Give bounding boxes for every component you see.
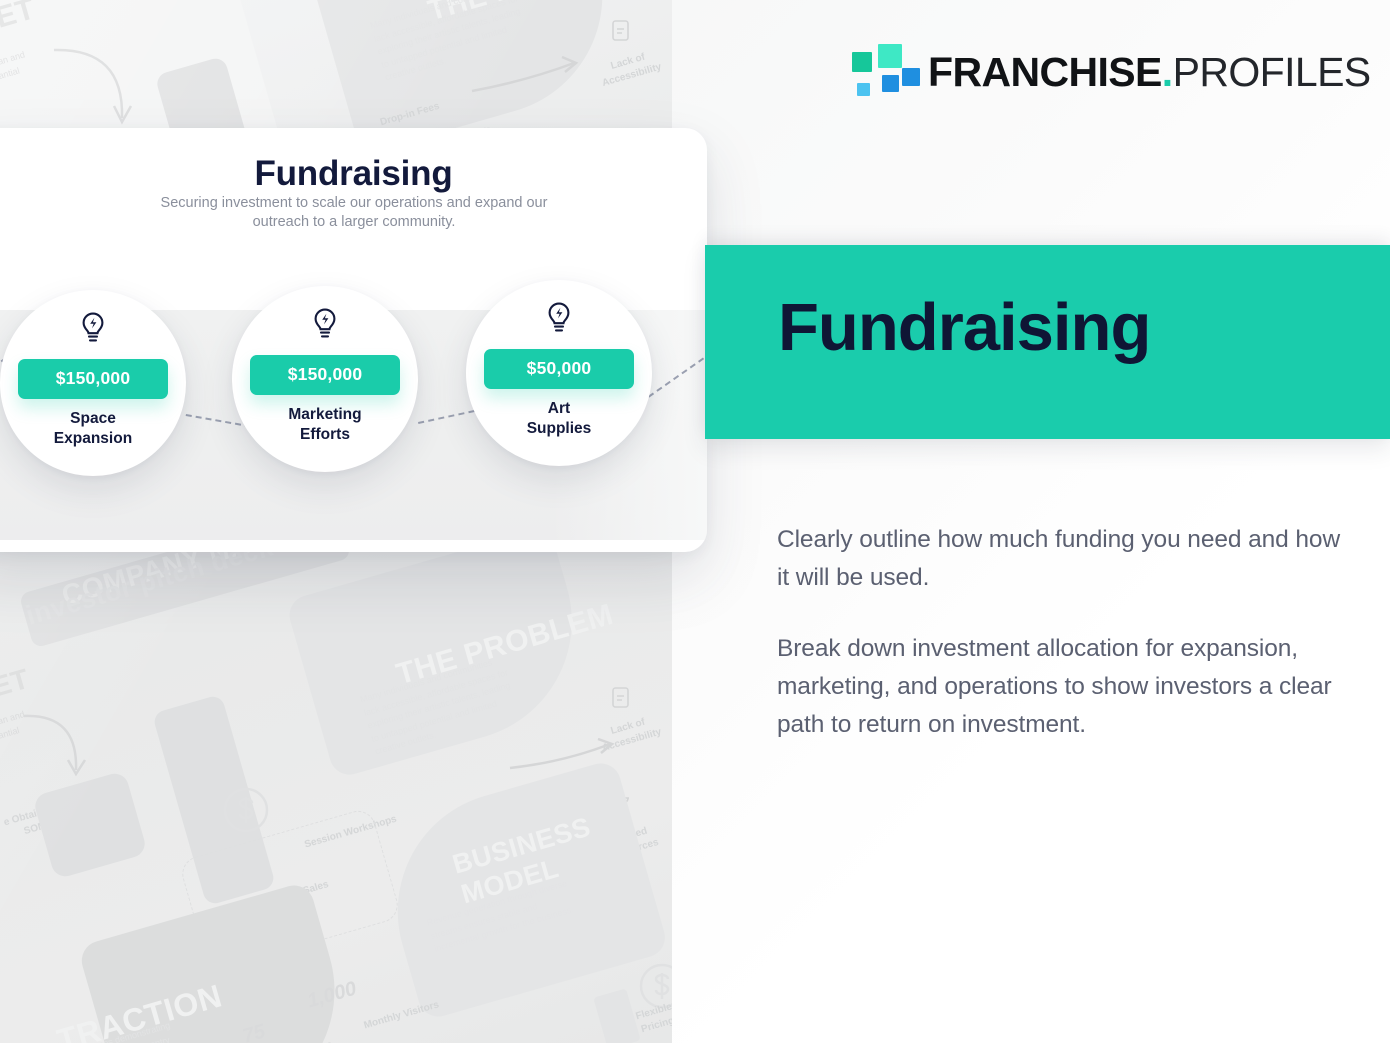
ghost-accessibility-label-2: Lack of Accessibility [586,709,672,759]
description-paragraph-1: Clearly outline how much funding you nee… [777,521,1357,596]
brand-logo[interactable]: FRANCHISE . PROFILES [852,44,1371,100]
slide-preview-card: Fundraising Securing investment to scale… [0,128,707,552]
section-banner: Fundraising [705,245,1390,439]
slide-title: Fundraising [0,154,707,194]
funding-node[interactable]: $50,000 Art Supplies [466,280,652,466]
document-icon-2 [608,685,634,711]
slide-canvas: KET ces in urban and t is substantial TH… [0,0,1390,1043]
funding-node-label: Space Expansion [54,409,132,449]
funding-node[interactable]: $150,000 Marketing Efforts [232,286,418,472]
logo-text-secondary: PROFILES [1173,52,1371,93]
logo-text-primary: FRANCHISE [928,52,1162,93]
slide-subtitle: Securing investment to scale our operati… [144,194,564,232]
document-icon [608,18,634,44]
ghost-market-title-2: KET [0,663,33,710]
banner-title: Fundraising [778,294,1150,361]
logo-text-dot: . [1162,52,1173,93]
description-block: Clearly outline how much funding you nee… [777,521,1357,744]
funding-amount-badge: $150,000 [18,359,168,399]
ghost-chart-bar [593,988,641,1043]
funding-node[interactable]: $150,000 Space Expansion [0,290,186,476]
ghost-arrow-2-icon [470,55,590,115]
squares-logo-mark-icon [852,44,908,100]
funding-node-label: Marketing Efforts [288,405,361,445]
funding-amount-badge: $50,000 [484,349,634,389]
lightbulb-icon [544,301,574,340]
lightbulb-icon [78,311,108,350]
funding-node-label: Art Supplies [527,399,592,439]
description-paragraph-2: Break down investment allocation for exp… [777,630,1357,743]
lightbulb-icon [310,307,340,346]
funding-amount-badge: $150,000 [250,355,400,395]
dollar-circle-icon [222,786,270,834]
ghost-accessibility-label: Lack of Accessibility [586,44,672,94]
